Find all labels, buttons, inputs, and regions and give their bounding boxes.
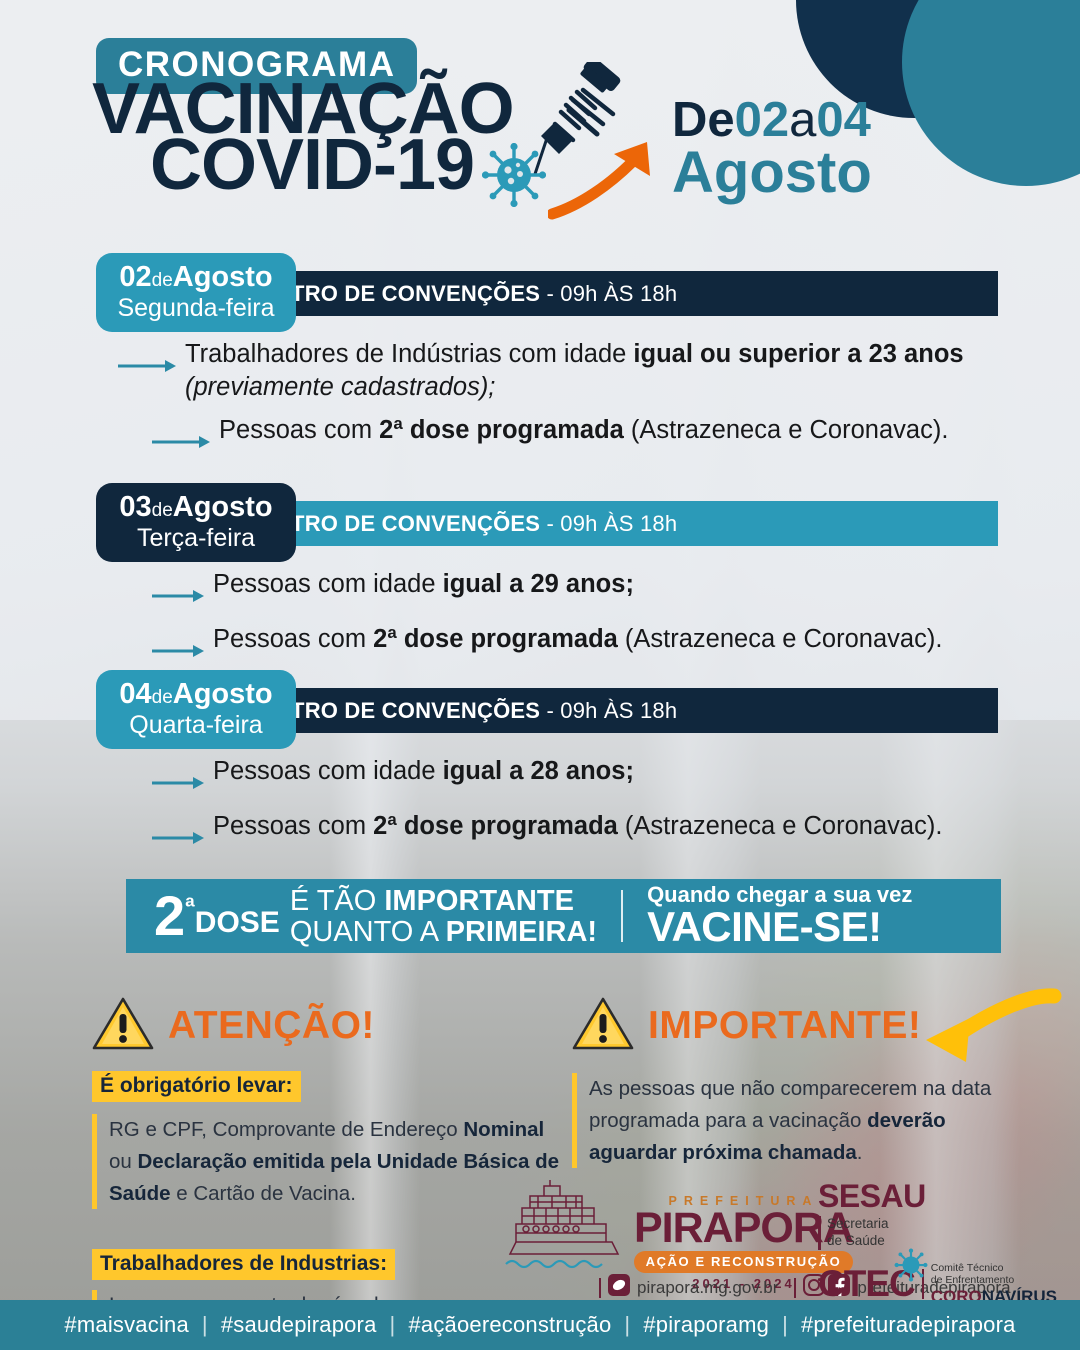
day-date-top: 04deAgosto (119, 680, 272, 709)
day-month: Agosto (173, 261, 273, 293)
vaccinate-callout: VACINE-SE! (647, 906, 912, 949)
day-date-tag: 02deAgostoSegunda-feira (96, 253, 296, 332)
day-date-top: 03deAgosto (119, 493, 272, 522)
day-date-tag: 03deAgostoTerça-feira (96, 483, 296, 562)
ctec-subtitle-line1: Comitê Técnico (931, 1262, 1057, 1275)
page-title-line2: COVID-19 (150, 132, 474, 198)
text-run-2: (Astrazeneca e Coronavac). (625, 625, 942, 653)
text-run-1: 2ª dose programada (373, 812, 625, 840)
text-run-1: igual a 29 anos; (443, 570, 634, 598)
list-item: Pessoas com idade igual a 28 anos; (118, 755, 1080, 800)
list-item: Trabalhadores de Indústrias com idade ig… (118, 338, 1080, 404)
day-location-bar: CENTRO DE CONVENÇÕES - 09h ÀS 18h (204, 271, 998, 316)
notice-atencao-header: ATENÇÃO! (92, 995, 562, 1057)
list-item-text: Pessoas com idade igual a 28 anos; (213, 755, 634, 788)
day-weekday: Terça-feira (137, 524, 255, 553)
dose-msg-1-light: É TÃO (290, 885, 385, 917)
arrow-right-icon (152, 426, 210, 459)
text-run-2: ou (109, 1150, 138, 1173)
warning-triangle-icon (572, 996, 634, 1057)
dose-word: DOSE (195, 908, 280, 938)
date-to: 04 (816, 93, 871, 147)
text-run-0: Pessoas com idade (213, 570, 443, 598)
dose-number: 2 (154, 884, 185, 947)
arrow-right-icon (152, 580, 204, 613)
arrow-right-icon (118, 350, 176, 383)
sesau-subtitle-line1: Secretaria (827, 1216, 1057, 1233)
list-item: Pessoas com idade igual a 29 anos; (118, 568, 1080, 613)
sesau-logo: SESAU (818, 1180, 1057, 1212)
dose-msg-1-bold: IMPORTANTE (384, 885, 574, 917)
header: CRONOGRAMA VACINAÇÃO COVID-19 (0, 0, 1080, 240)
day-header-row: CENTRO DE CONVENÇÕES - 09h ÀS 18h03deAgo… (96, 495, 998, 552)
globe-icon (608, 1274, 630, 1301)
hashtag-separator: | (202, 1312, 208, 1338)
hashtag[interactable]: #prefeituradepirapora (801, 1312, 1016, 1338)
steamboat-icon (500, 1180, 628, 1281)
list-item: Pessoas com 2ª dose programada (Astrazen… (118, 414, 1080, 459)
sesau-ctec-logos: SESAU Secretaria de Saúde (818, 1180, 1057, 1306)
social-divider-2 (794, 1278, 796, 1298)
list-item-text: Pessoas com 2ª dose programada (Astrazen… (213, 810, 942, 843)
dose-msg-2-light: QUANTO A (290, 916, 446, 948)
list-item: Pessoas com 2ª dose programada (Astrazen… (118, 810, 1080, 855)
dose-ordinal: ª (185, 892, 195, 922)
day-number: 04 (119, 678, 151, 710)
text-run-2: . (857, 1141, 863, 1164)
hashtag-bar: #maisvacina|#saudepirapora|#açãoereconst… (0, 1300, 1080, 1350)
orange-curved-arrow-icon (548, 130, 668, 225)
day-time: - 09h ÀS 18h (540, 511, 677, 537)
website-url[interactable]: pirapora.mg.gov.br (637, 1278, 778, 1298)
day-time: - 09h ÀS 18h (540, 698, 677, 724)
hashtag[interactable]: #açãoereconstrução (408, 1312, 611, 1338)
sesau-wordmark: SESAU (818, 1180, 926, 1212)
day-time: - 09h ÀS 18h (540, 281, 677, 307)
ctec-subtitle-line2: de Enfrentamento (931, 1274, 1057, 1287)
day-block-03: CENTRO DE CONVENÇÕES - 09h ÀS 18h03deAgo… (0, 495, 1080, 678)
day-de: de (152, 687, 173, 708)
dose-msg-2-bold: PRIMEIRA! (446, 916, 597, 948)
date-from: 02 (735, 93, 790, 147)
hashtag-separator: | (782, 1312, 788, 1338)
hashtag[interactable]: #saudepirapora (221, 1312, 377, 1338)
day-block-02: CENTRO DE CONVENÇÕES - 09h ÀS 18h02deAgo… (0, 265, 1080, 469)
day-header-row: CENTRO DE CONVENÇÕES - 09h ÀS 18h02deAgo… (96, 265, 998, 322)
day-number: 02 (119, 261, 151, 293)
list-item-text: Pessoas com idade igual a 29 anos; (213, 568, 634, 601)
notice-importante-title: IMPORTANTE! (648, 1004, 921, 1048)
text-run-1: Nominal (463, 1118, 544, 1141)
text-run-0: Trabalhadores de Indústrias com idade (185, 340, 633, 368)
notice-atencao-highlight: É obrigatório levar: (92, 1071, 301, 1102)
day-number: 03 (119, 491, 151, 523)
text-run-1: igual a 28 anos; (443, 757, 634, 785)
day-block-04: CENTRO DE CONVENÇÕES - 09h ÀS 18h04deAgo… (0, 682, 1080, 865)
dose-banner-left: 2ª DOSE (126, 890, 280, 942)
text-run-2: (Astrazeneca e Coronavac). (631, 416, 948, 444)
dose-big-number: 2ª (154, 890, 195, 942)
arrow-right-icon (152, 635, 204, 668)
day-bullet-list: Pessoas com idade igual a 29 anos;Pessoa… (118, 568, 1080, 668)
yellow-curved-arrow-icon (892, 988, 1062, 1085)
day-weekday: Quarta-feira (129, 711, 262, 740)
text-run-0: Pessoas com idade (213, 757, 443, 785)
social-divider-1 (599, 1278, 601, 1298)
list-item-text: Trabalhadores de Indústrias com idade ig… (185, 338, 1015, 404)
list-item-text: Pessoas com 2ª dose programada (Astrazen… (213, 623, 942, 656)
hashtag-separator: | (390, 1312, 396, 1338)
text-run-0: Pessoas com (213, 625, 373, 653)
day-de: de (152, 500, 173, 521)
arrow-right-icon (152, 822, 204, 855)
virus-icon (482, 143, 546, 212)
day-date-tag: 04deAgostoQuarta-feira (96, 670, 296, 749)
list-item: Pessoas com 2ª dose programada (Astrazen… (118, 623, 1080, 668)
notice-importante-body: As pessoas que não comparecerem na data … (572, 1073, 1022, 1168)
second-dose-banner: 2ª DOSE É TÃO IMPORTANTE QUANTO A PRIMEI… (126, 879, 1001, 953)
text-run-1: 2ª dose programada (373, 625, 625, 653)
footer-logos: PREFEITURA PIRAPORA AÇÃO E RECONSTRUÇÃO … (0, 1178, 1080, 1300)
arrow-right-icon (152, 767, 204, 800)
day-weekday: Segunda-feira (117, 294, 274, 323)
text-run-0: Pessoas com (213, 812, 373, 840)
day-bullet-list: Trabalhadores de Indústrias com idade ig… (118, 338, 1080, 459)
day-location-bar: CENTRO DE CONVENÇÕES - 09h ÀS 18h (204, 501, 998, 546)
text-run-1: igual ou superior a 23 anos (633, 340, 963, 368)
text-run-2: (Astrazeneca e Coronavac). (625, 812, 942, 840)
hashtag[interactable]: #maisvacina (64, 1312, 188, 1338)
date-range: De02a04 Agosto (672, 96, 872, 202)
dose-banner-divider (621, 890, 623, 942)
hashtag-separator: | (624, 1312, 630, 1338)
sesau-subtitle: Secretaria de Saúde (818, 1216, 1057, 1250)
day-location-bar: CENTRO DE CONVENÇÕES - 09h ÀS 18h (204, 688, 998, 733)
dose-banner-message: É TÃO IMPORTANTE QUANTO A PRIMEIRA! (290, 886, 597, 947)
day-month: Agosto (173, 491, 273, 523)
day-month: Agosto (173, 678, 273, 710)
day-date-top: 02deAgosto (119, 263, 272, 292)
list-item-text: Pessoas com 2ª dose programada (Astrazen… (219, 414, 948, 447)
notice-atencao-title: ATENÇÃO! (168, 1004, 375, 1048)
date-connector: a (789, 93, 816, 147)
text-run-0: RG e CPF, Comprovante de Endereço (109, 1118, 463, 1141)
day-header-row: CENTRO DE CONVENÇÕES - 09h ÀS 18h04deAgo… (96, 682, 998, 739)
date-month: Agosto (672, 144, 872, 202)
warning-triangle-icon (92, 996, 154, 1057)
poster-root: CRONOGRAMA VACINAÇÃO COVID-19 (0, 0, 1080, 1350)
sesau-subtitle-line2: de Saúde (827, 1233, 1057, 1250)
text-run-1: 2ª dose programada (379, 416, 631, 444)
day-bullet-list: Pessoas com idade igual a 28 anos;Pessoa… (118, 755, 1080, 855)
dose-banner-right: Quando chegar a sua vez VACINE-SE! (647, 883, 912, 949)
hashtag[interactable]: #piraporamg (643, 1312, 769, 1338)
virus-icon (894, 1248, 928, 1287)
text-run-0: Pessoas com (219, 416, 379, 444)
date-prefix: De (672, 93, 735, 147)
text-run-2: (previamente cadastrados); (185, 373, 495, 401)
day-de: de (152, 270, 173, 291)
